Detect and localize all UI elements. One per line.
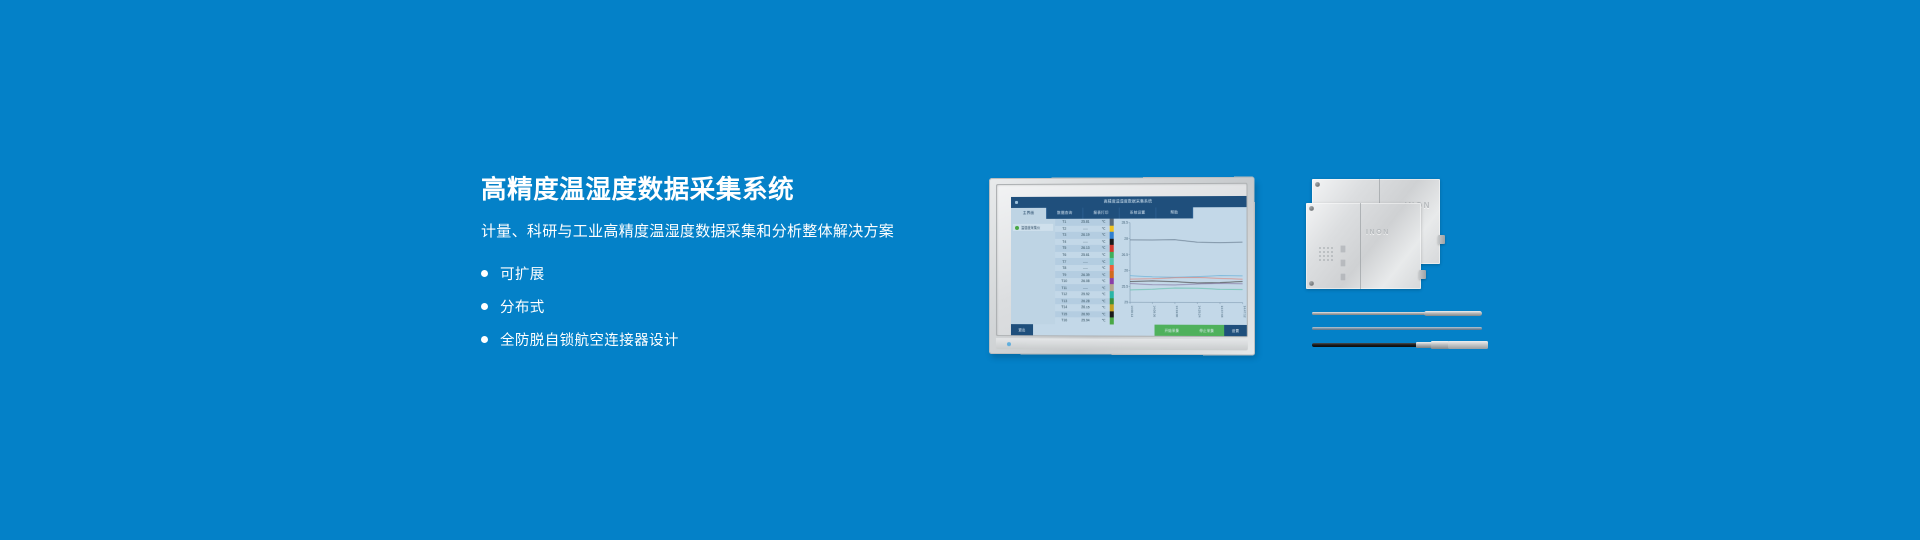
sidebar-tree-node[interactable]: 温湿度采集仪 <box>1013 224 1053 231</box>
feature-item: 全防脱自锁航空连接器设计 <box>481 327 941 352</box>
cell-unit: ℃ <box>1098 246 1110 250</box>
cell-value: 26.90 <box>1073 312 1097 316</box>
tab-1[interactable]: 数据查询 <box>1047 208 1083 219</box>
trend-chart-svg: 28.52826.52625.52514:00:1214:09:3614:19:… <box>1114 218 1247 325</box>
module-side-port <box>1419 270 1426 279</box>
tab-4[interactable]: 帮助 <box>1156 207 1193 218</box>
cell-channel: T16 <box>1055 319 1073 323</box>
cell-value: 25.61 <box>1073 253 1097 257</box>
y-axis-tick-label: 28.5 <box>1122 221 1129 225</box>
chart-series-line <box>1130 288 1243 290</box>
bullet-icon <box>481 303 488 310</box>
cell-channel: T5 <box>1055 246 1073 250</box>
cell-channel: T3 <box>1055 233 1073 237</box>
chart-series-line <box>1130 277 1243 279</box>
feature-item-label: 可扩展 <box>500 263 545 284</box>
vent-cell <box>1319 251 1321 253</box>
cell-unit: ℃ <box>1098 279 1110 283</box>
feature-item: 分布式 <box>481 294 941 319</box>
tab-2[interactable]: 报表打印 <box>1083 208 1119 219</box>
app-sidebar: 温湿度采集仪 <box>1011 219 1055 324</box>
cell-value: ---- <box>1073 266 1097 270</box>
footer-button-0[interactable]: 退出 <box>1011 324 1033 335</box>
probe-shaft <box>1312 327 1482 330</box>
cell-unit: ℃ <box>1098 319 1110 323</box>
device-group: INON INON <box>1306 175 1482 365</box>
vent-cell <box>1327 251 1329 253</box>
monitor-bezel: 高精度温湿度数据采集系统 主界面数据查询报表打印系统设置帮助 温湿度采集仪 T1… <box>989 177 1255 356</box>
x-axis-tick-label: 14:09:36 <box>1153 305 1157 317</box>
cell-unit: ℃ <box>1098 253 1110 257</box>
chart-series-line <box>1130 276 1243 278</box>
vent-cell <box>1319 247 1321 249</box>
x-axis-tick-label: 14:47:12 <box>1243 306 1247 318</box>
probe-ferrule <box>1416 342 1432 348</box>
cell-channel: T12 <box>1055 292 1073 296</box>
cell-value: 25.81 <box>1073 220 1097 224</box>
module-connector-port <box>1340 259 1346 267</box>
cell-unit: ℃ <box>1098 233 1110 237</box>
tab-bar-filler <box>1193 207 1246 218</box>
probe-cable <box>1312 343 1420 347</box>
cell-unit: ℃ <box>1098 273 1110 277</box>
cell-channel: T13 <box>1055 299 1073 303</box>
vent-cell <box>1327 247 1329 249</box>
tab-0[interactable]: 主界面 <box>1011 208 1047 219</box>
daq-module-front: INON <box>1306 203 1421 289</box>
cell-channel: T4 <box>1055 240 1073 244</box>
footer-button-3[interactable]: 设置 <box>1224 325 1247 336</box>
device-status-icon <box>1015 225 1019 229</box>
cell-unit: ℃ <box>1098 220 1110 224</box>
module-screw-icon <box>1315 182 1320 187</box>
y-axis-tick-label: 26.5 <box>1122 253 1129 257</box>
vent-cell <box>1327 255 1329 257</box>
module-connector-port <box>1340 245 1346 253</box>
page-subtitle: 计量、科研与工业高精度温湿度数据采集和分析整体解决方案 <box>481 220 941 241</box>
vent-cell <box>1323 255 1325 257</box>
vent-cell <box>1331 255 1333 257</box>
bullet-icon <box>481 270 488 277</box>
cell-channel: T8 <box>1055 266 1073 270</box>
cell-value: 26.28 <box>1073 299 1097 303</box>
probe-shaft <box>1312 312 1430 314</box>
cell-unit: ℃ <box>1098 259 1110 263</box>
cell-channel: T14 <box>1055 306 1073 310</box>
footer-spacer <box>1033 324 1154 336</box>
app-title-bar: 高精度温湿度数据采集系统 <box>1011 196 1247 208</box>
vent-cell <box>1331 251 1333 253</box>
cell-value: 25.92 <box>1073 292 1097 296</box>
lcd-monitor: 高精度温湿度数据采集系统 主界面数据查询报表打印系统设置帮助 温湿度采集仪 T1… <box>989 178 1259 360</box>
y-axis-tick-label: 25.5 <box>1122 285 1129 289</box>
probe-lock-nut <box>1431 341 1449 349</box>
monitor-chin <box>996 338 1248 350</box>
table-row[interactable]: T1625.94℃ <box>1055 317 1110 324</box>
cell-channel: T6 <box>1055 253 1073 257</box>
hero-text-block: 高精度温湿度数据采集系统 计量、科研与工业高精度温湿度数据采集和分析整体解决方案… <box>481 176 941 360</box>
vent-cell <box>1319 259 1321 261</box>
tab-3[interactable]: 系统设置 <box>1120 207 1157 218</box>
app-tab-bar: 主界面数据查询报表打印系统设置帮助 <box>1011 207 1247 219</box>
cell-unit: ℃ <box>1098 312 1110 316</box>
cell-unit: ℃ <box>1098 240 1110 244</box>
cell-unit: ℃ <box>1098 286 1110 290</box>
cell-unit: ℃ <box>1098 266 1110 270</box>
feature-list: 可扩展分布式全防脱自锁航空连接器设计 <box>481 261 941 352</box>
cell-channel: T10 <box>1055 279 1073 283</box>
x-axis-tick-label: 14:28:24 <box>1198 306 1202 318</box>
vent-cell <box>1331 247 1333 249</box>
vent-cell <box>1331 259 1333 261</box>
cell-value: 26.15 <box>1073 306 1097 310</box>
x-axis-tick-label: 14:00:12 <box>1130 305 1134 317</box>
feature-item: 可扩展 <box>481 261 941 286</box>
cell-value: ---- <box>1073 286 1097 290</box>
module-screw-icon <box>1309 281 1314 286</box>
vent-cell <box>1323 247 1325 249</box>
y-axis-tick-label: 25 <box>1124 300 1128 304</box>
app-body: 温湿度采集仪 T125.81℃T2----℃T326.19℃T4----℃T52… <box>1011 218 1247 325</box>
app-footer-bar: 退出开始采集停止采集设置 <box>1011 324 1247 336</box>
chart-series-line <box>1130 240 1243 243</box>
module-screw-icon <box>1309 206 1314 211</box>
cell-channel: T9 <box>1055 273 1073 277</box>
probe-barrel <box>1448 341 1488 348</box>
footer-button-1[interactable]: 开始采集 <box>1155 325 1190 336</box>
cell-value: 26.13 <box>1073 246 1097 250</box>
x-axis-tick-label: 14:19:00 <box>1175 305 1179 317</box>
y-axis-tick-label: 28 <box>1124 237 1128 241</box>
probe-stainless-temperature <box>1312 311 1482 316</box>
channel-table: T125.81℃T2----℃T326.19℃T4----℃T526.13℃T6… <box>1055 219 1110 325</box>
probe-thin-wire-sensor <box>1312 327 1482 330</box>
cell-unit: ℃ <box>1098 299 1110 303</box>
app-window-title: 高精度温湿度数据采集系统 <box>1011 199 1247 205</box>
vent-cell <box>1327 259 1329 261</box>
footer-button-2[interactable]: 停止采集 <box>1189 325 1224 336</box>
chart-series-line <box>1130 281 1243 283</box>
cell-value: ---- <box>1073 227 1097 231</box>
x-axis-tick-label: 14:37:48 <box>1220 306 1224 318</box>
vent-cell <box>1323 251 1325 253</box>
cell-channel: T7 <box>1055 260 1073 264</box>
module-side-port <box>1438 235 1445 244</box>
module-panel-seam <box>1360 203 1361 289</box>
cell-value: 26.19 <box>1073 233 1097 237</box>
probe-cabled-aviation-connector <box>1312 341 1482 349</box>
sidebar-tree-node-label: 温湿度采集仪 <box>1021 225 1040 230</box>
probe-tip <box>1424 311 1482 316</box>
chart-series-line <box>1130 283 1243 285</box>
cell-unit: ℃ <box>1098 292 1110 296</box>
cell-channel: T11 <box>1055 286 1073 290</box>
module-connector-port <box>1340 273 1346 281</box>
cell-value: 26.39 <box>1073 273 1097 277</box>
cell-value: 26.08 <box>1073 279 1097 283</box>
cell-unit: ℃ <box>1098 227 1110 231</box>
cell-value: ---- <box>1073 260 1097 264</box>
monitor-screen: 高精度温湿度数据采集系统 主界面数据查询报表打印系统设置帮助 温湿度采集仪 T1… <box>1011 196 1247 336</box>
trend-chart: 28.52826.52625.52514:00:1214:09:3614:19:… <box>1114 218 1247 325</box>
module-vent-grid <box>1319 247 1333 261</box>
feature-item-label: 分布式 <box>500 296 545 317</box>
monitor-inner-bevel: 高精度温湿度数据采集系统 主界面数据查询报表打印系统设置帮助 温湿度采集仪 T1… <box>996 183 1248 337</box>
module-brand-label-front: INON <box>1366 229 1390 236</box>
cell-value: ---- <box>1073 240 1097 244</box>
vent-cell <box>1319 255 1321 257</box>
page-title: 高精度温湿度数据采集系统 <box>481 176 941 204</box>
y-axis-tick-label: 26 <box>1124 269 1128 273</box>
cell-channel: T15 <box>1055 312 1073 316</box>
feature-item-label: 全防脱自锁航空连接器设计 <box>500 329 679 350</box>
cell-value: 25.94 <box>1073 319 1097 323</box>
power-led-icon <box>1007 342 1011 346</box>
cell-channel: T1 <box>1055 220 1073 224</box>
vent-cell <box>1323 259 1325 261</box>
cell-unit: ℃ <box>1098 306 1110 310</box>
cell-channel: T2 <box>1055 227 1073 231</box>
bullet-icon <box>481 336 488 343</box>
